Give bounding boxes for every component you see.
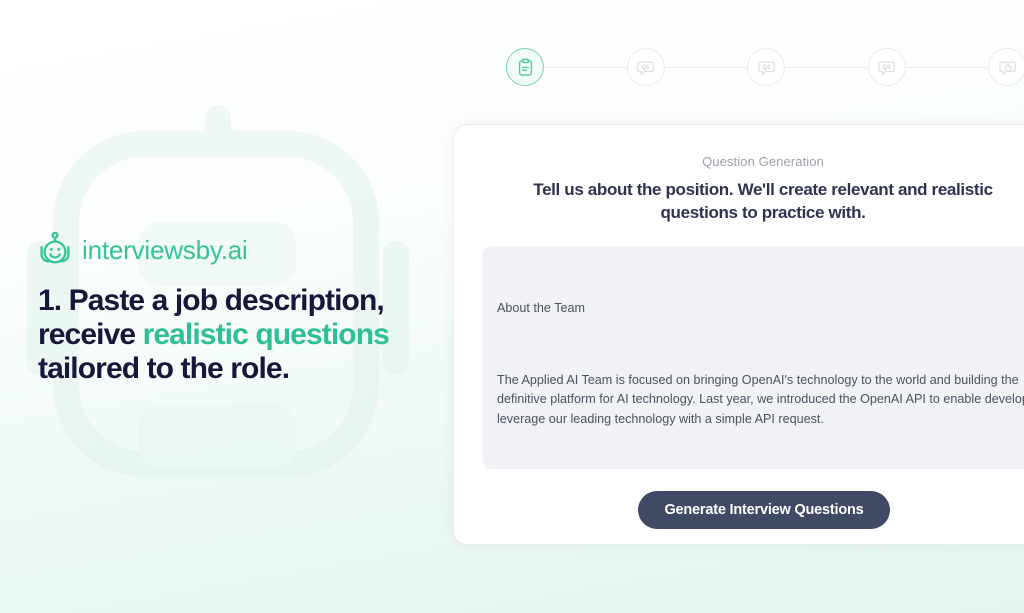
job-description-input[interactable]: About the Team The Applied AI Team is fo… (483, 246, 1024, 469)
stepper-step-q3[interactable]: Q3 (868, 48, 906, 86)
stepper-step-label: Q3 (882, 65, 891, 71)
stepper-step-label: Q2 (762, 65, 771, 71)
jd-paragraph: The Applied AI Team is focused on bringi… (497, 371, 1024, 430)
question-bubble-icon: Q1 (636, 58, 655, 77)
question-bubble-icon: Q3 (877, 58, 896, 77)
generate-interview-questions-button[interactable]: Generate Interview Questions (638, 491, 889, 529)
question-bubble-icon: Q2 (757, 58, 776, 77)
robot-head-icon (38, 232, 72, 268)
marketing-panel: interviewsby.ai 1. Paste a job descripti… (38, 232, 458, 386)
card-title: Tell us about the position. We'll create… (508, 179, 1018, 225)
clipboard-icon (516, 58, 535, 77)
progress-stepper: Q1 Q2 Q3 (506, 48, 1024, 86)
brand-name: interviewsby.ai (82, 235, 248, 266)
stepper-connector (544, 67, 627, 68)
stepper-connector (906, 67, 989, 68)
stepper-connector (665, 67, 748, 68)
headline-accent: realistic questions (143, 318, 389, 351)
card-actions: Generate Interview Questions (454, 491, 1024, 529)
thumbs-up-bubble-icon (998, 58, 1017, 77)
stepper-step-label: Q1 (641, 65, 650, 71)
headline-part-2: tailored to the role. (38, 352, 289, 385)
stepper-step-job-description[interactable] (506, 48, 544, 86)
stepper-step-q2[interactable]: Q2 (747, 48, 785, 86)
stepper-connector (785, 67, 868, 68)
stepper-step-q1[interactable]: Q1 (627, 48, 665, 86)
stepper-step-feedback[interactable] (988, 48, 1024, 86)
card-eyebrow: Question Generation (454, 154, 1024, 169)
page-headline: 1. Paste a job description, receive real… (38, 284, 438, 386)
jd-heading: About the Team (497, 299, 1024, 319)
brand-lockup: interviewsby.ai (38, 232, 458, 268)
question-generation-card: Question Generation Tell us about the po… (453, 124, 1024, 545)
